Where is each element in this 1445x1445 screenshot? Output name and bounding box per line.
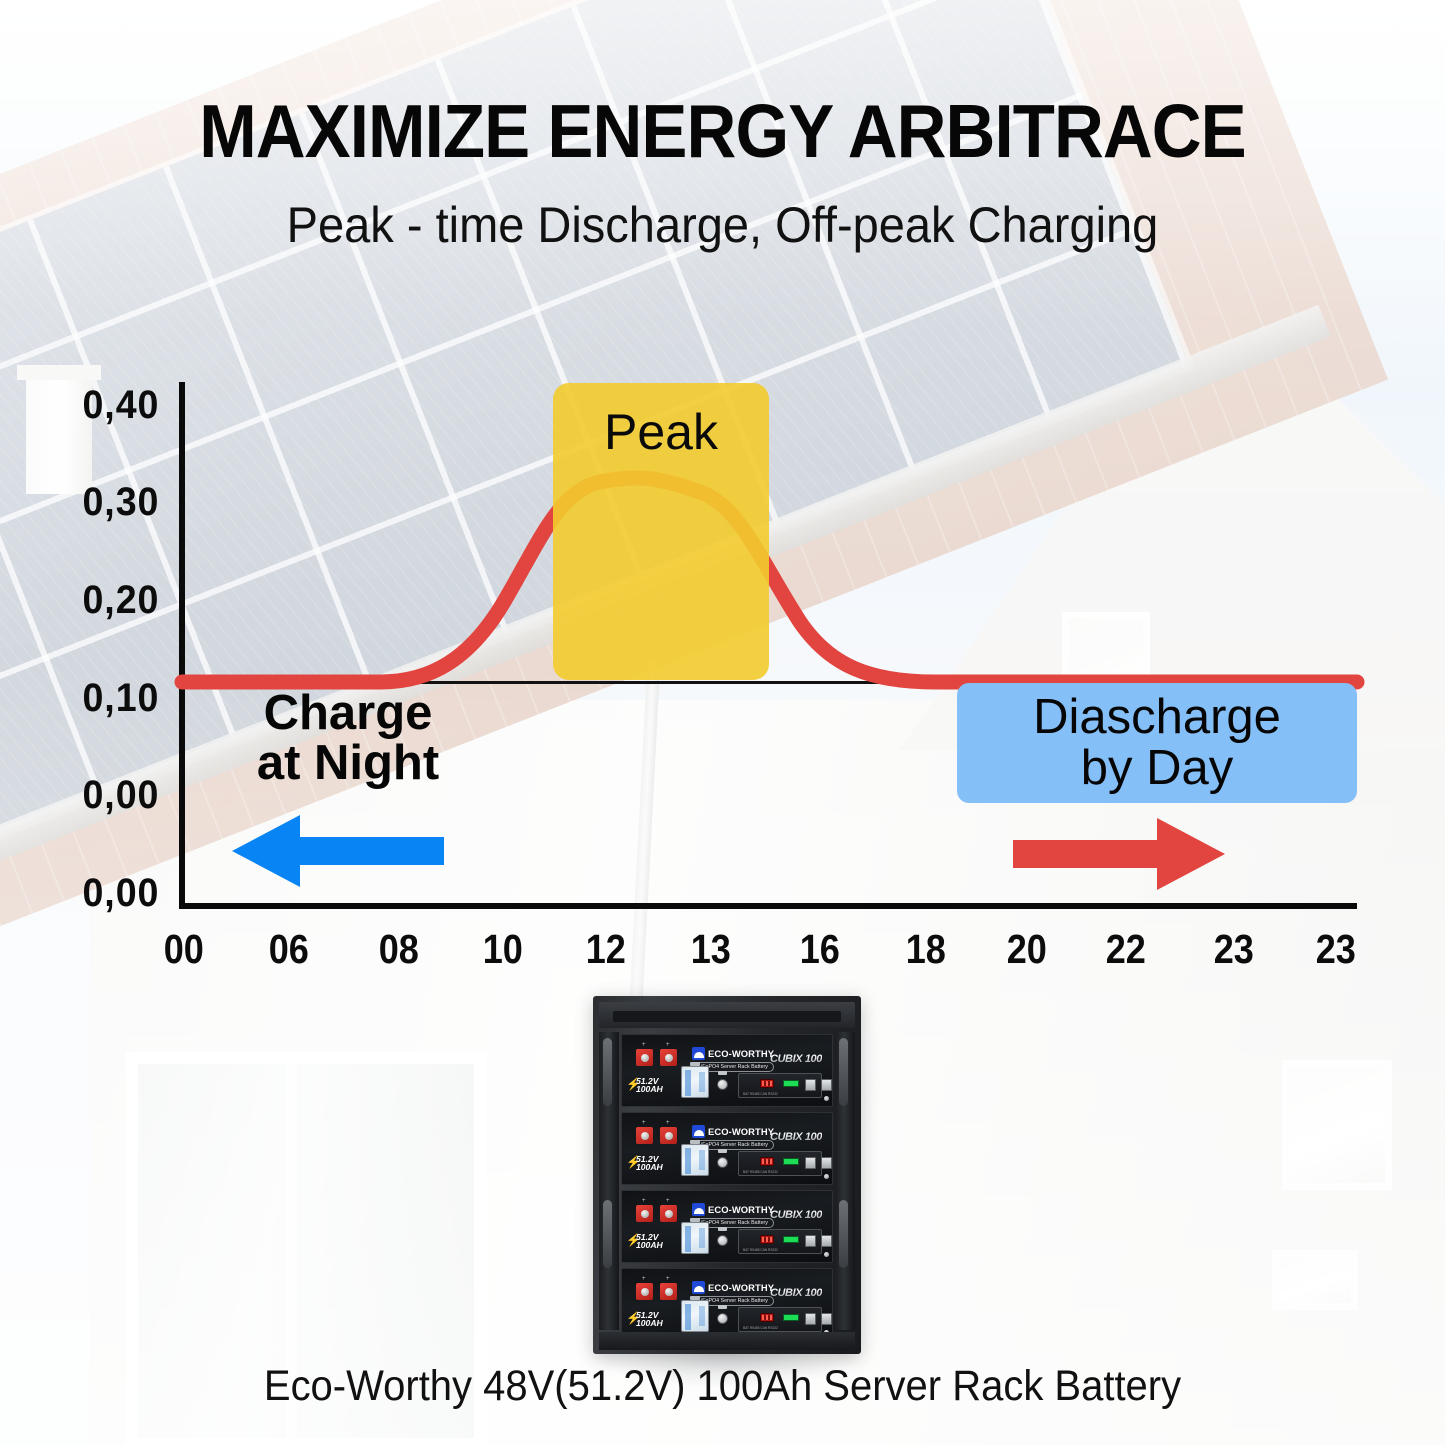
lcd-display bbox=[681, 1144, 709, 1176]
brand-row: ECO-WORTHY bbox=[692, 1203, 774, 1216]
positive-terminal bbox=[636, 1205, 653, 1222]
eco-worthy-logo-icon bbox=[692, 1125, 705, 1138]
energy-arbitrage-chart: 0,40 0,30 0,20 0,10 0,00 0,00 00 06 08 1… bbox=[0, 0, 1445, 1000]
model-label: CUBIX 100 bbox=[770, 1209, 822, 1221]
status-led-strip bbox=[783, 1236, 799, 1243]
power-dial[interactable] bbox=[717, 1079, 728, 1090]
model-label: CUBIX 100 bbox=[770, 1287, 822, 1299]
terminal-polarity-label: + bbox=[642, 1120, 646, 1126]
dial-nub bbox=[718, 1071, 727, 1075]
status-led-strip bbox=[783, 1158, 799, 1165]
negative-terminal bbox=[660, 1049, 677, 1066]
spec-capacity: 100AH bbox=[636, 1240, 663, 1250]
io-port-labels: BAT RS485 CAN RS232 bbox=[743, 1092, 778, 1096]
brand-row: ECO-WORTHY bbox=[692, 1125, 774, 1138]
spec-label: 51.2V 100AH bbox=[636, 1311, 663, 1328]
dial-nub bbox=[718, 1305, 727, 1309]
rack-top-panel bbox=[599, 1002, 855, 1028]
seven-segment-display bbox=[760, 1313, 774, 1322]
seven-segment-display bbox=[760, 1079, 774, 1088]
terminal-polarity-label: + bbox=[642, 1198, 646, 1204]
rj45-port[interactable] bbox=[821, 1313, 832, 1325]
brand-row: ECO-WORTHY bbox=[692, 1281, 774, 1294]
negative-terminal bbox=[660, 1283, 677, 1300]
battery-module: + + ECO-WORTHY LiFePO4 Server Rack Batte… bbox=[621, 1034, 833, 1107]
eco-worthy-logo-icon bbox=[692, 1047, 705, 1060]
terminal-polarity-label: + bbox=[642, 1042, 646, 1048]
spec-capacity: 100AH bbox=[636, 1162, 663, 1172]
product-caption: Eco-Worthy 48V(51.2V) 100Ah Server Rack … bbox=[51, 1362, 1395, 1411]
seven-segment-display bbox=[760, 1235, 774, 1244]
battery-module-list: + + ECO-WORTHY LiFePO4 Server Rack Batte… bbox=[621, 1034, 833, 1341]
charge-at-night-label: Charge at Night bbox=[188, 689, 508, 789]
terminal-polarity-label: + bbox=[666, 1198, 670, 1204]
terminal-polarity-label: + bbox=[666, 1042, 670, 1048]
faceplate-screw bbox=[824, 1252, 829, 1257]
faceplate-screw bbox=[824, 1174, 829, 1179]
rack-rail-left bbox=[599, 1032, 619, 1330]
discharge-by-day-line1: Diascharge bbox=[1033, 690, 1281, 744]
spec-capacity: 100AH bbox=[636, 1318, 663, 1328]
lcd-display bbox=[681, 1066, 709, 1098]
spec-label: 51.2V 100AH bbox=[636, 1077, 663, 1094]
model-label: CUBIX 100 bbox=[770, 1053, 822, 1065]
power-dial[interactable] bbox=[717, 1157, 728, 1168]
eco-worthy-logo-icon bbox=[692, 1281, 705, 1294]
rj45-port[interactable] bbox=[821, 1157, 832, 1169]
rj45-port[interactable] bbox=[805, 1157, 816, 1169]
status-led-strip bbox=[783, 1080, 799, 1087]
rack-base-panel bbox=[599, 1332, 855, 1350]
peak-band-label: Peak bbox=[553, 403, 769, 461]
brand-name: ECO-WORTHY bbox=[708, 1204, 774, 1215]
discharge-by-day-label: Diascharge by Day bbox=[957, 692, 1357, 795]
positive-terminal bbox=[636, 1283, 653, 1300]
terminal-polarity-label: + bbox=[642, 1276, 646, 1282]
brand-row: ECO-WORTHY bbox=[692, 1047, 774, 1060]
positive-terminal bbox=[636, 1127, 653, 1144]
rj45-port[interactable] bbox=[805, 1079, 816, 1091]
dial-nub bbox=[718, 1227, 727, 1231]
io-panel: BAT RS485 CAN RS232 bbox=[738, 1073, 822, 1098]
rack-enclosure: + + ECO-WORTHY LiFePO4 Server Rack Batte… bbox=[593, 996, 861, 1354]
spec-capacity: 100AH bbox=[636, 1084, 663, 1094]
brand-name: ECO-WORTHY bbox=[708, 1048, 774, 1059]
negative-terminal bbox=[660, 1205, 677, 1222]
spec-label: 51.2V 100AH bbox=[636, 1233, 663, 1250]
negative-terminal bbox=[660, 1127, 677, 1144]
rj45-port[interactable] bbox=[821, 1235, 832, 1247]
spec-label: 51.2V 100AH bbox=[636, 1155, 663, 1172]
io-panel: BAT RS485 CAN RS232 bbox=[738, 1229, 822, 1254]
battery-module: + + ECO-WORTHY LiFePO4 Server Rack Batte… bbox=[621, 1268, 833, 1341]
status-led-strip bbox=[783, 1314, 799, 1321]
lcd-display bbox=[681, 1222, 709, 1254]
rj45-port[interactable] bbox=[805, 1313, 816, 1325]
positive-terminal bbox=[636, 1049, 653, 1066]
power-dial[interactable] bbox=[717, 1313, 728, 1324]
eco-worthy-logo-icon bbox=[692, 1203, 705, 1216]
rj45-port[interactable] bbox=[821, 1079, 832, 1091]
rj45-port[interactable] bbox=[805, 1235, 816, 1247]
terminal-polarity-label: + bbox=[666, 1276, 670, 1282]
io-panel: BAT RS485 CAN RS232 bbox=[738, 1307, 822, 1332]
seven-segment-display bbox=[760, 1157, 774, 1166]
lcd-display bbox=[681, 1300, 709, 1332]
charge-at-night-line1: Charge bbox=[264, 686, 433, 740]
server-rack-battery-product-image: + + ECO-WORTHY LiFePO4 Server Rack Batte… bbox=[593, 996, 861, 1354]
battery-module: + + ECO-WORTHY LiFePO4 Server Rack Batte… bbox=[621, 1112, 833, 1185]
terminal-polarity-label: + bbox=[666, 1120, 670, 1126]
io-port-labels: BAT RS485 CAN RS232 bbox=[743, 1170, 778, 1174]
io-port-labels: BAT RS485 CAN RS232 bbox=[743, 1248, 778, 1252]
brand-name: ECO-WORTHY bbox=[708, 1282, 774, 1293]
faceplate-screw bbox=[824, 1096, 829, 1101]
charge-left-arrow-icon bbox=[232, 815, 444, 887]
power-dial[interactable] bbox=[717, 1235, 728, 1246]
battery-module: + + ECO-WORTHY LiFePO4 Server Rack Batte… bbox=[621, 1190, 833, 1263]
io-port-labels: BAT RS485 CAN RS232 bbox=[743, 1326, 778, 1330]
io-panel: BAT RS485 CAN RS232 bbox=[738, 1151, 822, 1176]
dial-nub bbox=[718, 1149, 727, 1153]
discharge-right-arrow-icon bbox=[1013, 818, 1225, 890]
rack-rail-right bbox=[835, 1032, 855, 1330]
brand-name: ECO-WORTHY bbox=[708, 1126, 774, 1137]
infographic-poster: MAXIMIZE ENERGY ARBITRACE Peak - time Di… bbox=[0, 0, 1445, 1445]
model-label: CUBIX 100 bbox=[770, 1131, 822, 1143]
charge-at-night-line2: at Night bbox=[257, 736, 439, 790]
discharge-by-day-line2: by Day bbox=[1081, 741, 1234, 795]
